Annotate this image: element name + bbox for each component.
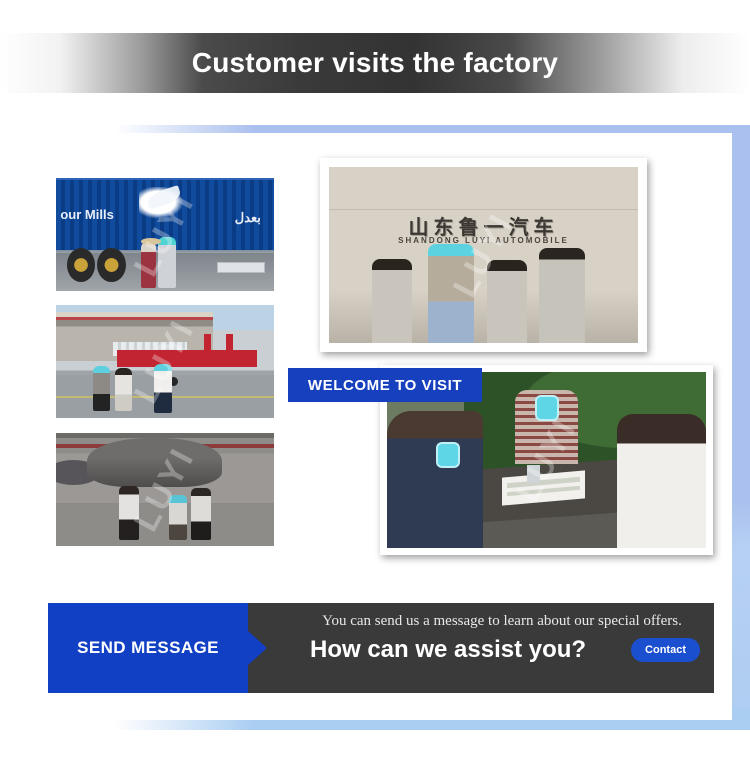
customer-person xyxy=(387,411,483,548)
send-message-button[interactable]: SEND MESSAGE xyxy=(48,603,248,693)
page-title: Customer visits the factory xyxy=(192,47,558,79)
photo-blue-truck-image: our Mills بعدل LUYI xyxy=(56,178,274,291)
page-header: Customer visits the factory xyxy=(0,33,750,93)
truck-wheel xyxy=(67,248,95,282)
visitor-person xyxy=(93,366,110,411)
dove-logo-icon xyxy=(139,187,187,221)
visitor-person xyxy=(154,364,171,414)
photo-red-lowbed-trailer-image: LUYI xyxy=(56,305,274,418)
staff-person xyxy=(487,260,527,343)
catalogue-row xyxy=(507,486,580,497)
truck-side-box xyxy=(217,262,265,273)
photo-tanker-workshop-image: LUYI xyxy=(56,433,274,546)
decor-band-right xyxy=(732,125,750,730)
welcome-to-visit-tag[interactable]: WELCOME TO VISIT xyxy=(288,368,482,402)
trailer-post xyxy=(204,334,211,352)
workshop-floor xyxy=(56,505,274,546)
trailer-scene xyxy=(56,305,274,418)
photo-blue-truck[interactable]: our Mills بعدل LUYI xyxy=(56,178,274,291)
photo-gallery: our Mills بعدل LUYI xyxy=(0,133,732,563)
photo-office-group[interactable]: 山东鲁一汽车 SHANDONG LUYI AUTOMOBILE LUYI xyxy=(320,158,647,352)
thumbs-up-icon xyxy=(537,397,557,419)
straw-hat xyxy=(141,238,161,245)
truck-text-left: our Mills xyxy=(60,207,113,222)
staff-person xyxy=(539,248,585,343)
visitor-person xyxy=(115,368,132,411)
company-sign-en: SHANDONG LUYI AUTOMOBILE xyxy=(398,236,569,245)
photo-tanker-workshop[interactable]: LUYI xyxy=(56,433,274,546)
truck-text-right: بعدل xyxy=(235,210,261,226)
tanker-body xyxy=(87,438,222,488)
photo-office-group-image: 山东鲁一汽车 SHANDONG LUYI AUTOMOBILE LUYI xyxy=(329,167,638,343)
contact-button[interactable]: Contact xyxy=(631,638,700,662)
roof-beam xyxy=(56,433,274,438)
staff-person xyxy=(428,244,474,343)
welcome-to-visit-label: WELCOME TO VISIT xyxy=(308,377,462,394)
thumbs-up-icon xyxy=(438,444,458,466)
message-bar-row: How can we assist you? Contact xyxy=(310,636,700,664)
message-bar: SEND MESSAGE You can send us a message t… xyxy=(48,603,714,693)
message-tagline: You can send us a message to learn about… xyxy=(310,613,700,630)
drink-can xyxy=(527,465,540,483)
trailer-post xyxy=(226,334,233,352)
visitor-person xyxy=(169,495,186,540)
sales-person xyxy=(617,414,706,548)
send-message-label: SEND MESSAGE xyxy=(77,638,219,658)
page-root: Customer visits the factory our Mills بع… xyxy=(0,0,750,768)
truck-scene: our Mills بعدل xyxy=(56,178,274,291)
visitor-person xyxy=(119,486,139,540)
truck-wheel xyxy=(97,248,125,282)
visitor-person xyxy=(141,242,156,287)
staff-person xyxy=(372,259,412,343)
photo-red-lowbed-trailer[interactable]: LUYI xyxy=(56,305,274,418)
visitor-person xyxy=(158,237,175,288)
message-headline: How can we assist you? xyxy=(310,636,586,664)
message-bar-text: You can send us a message to learn about… xyxy=(270,603,714,693)
visitor-person xyxy=(191,488,211,540)
send-message-arrow-icon xyxy=(248,631,267,665)
trailer-bed xyxy=(117,350,257,367)
workshop-scene xyxy=(56,433,274,546)
shed-stripe xyxy=(56,317,213,320)
office-scene: 山东鲁一汽车 SHANDONG LUYI AUTOMOBILE xyxy=(329,167,638,343)
